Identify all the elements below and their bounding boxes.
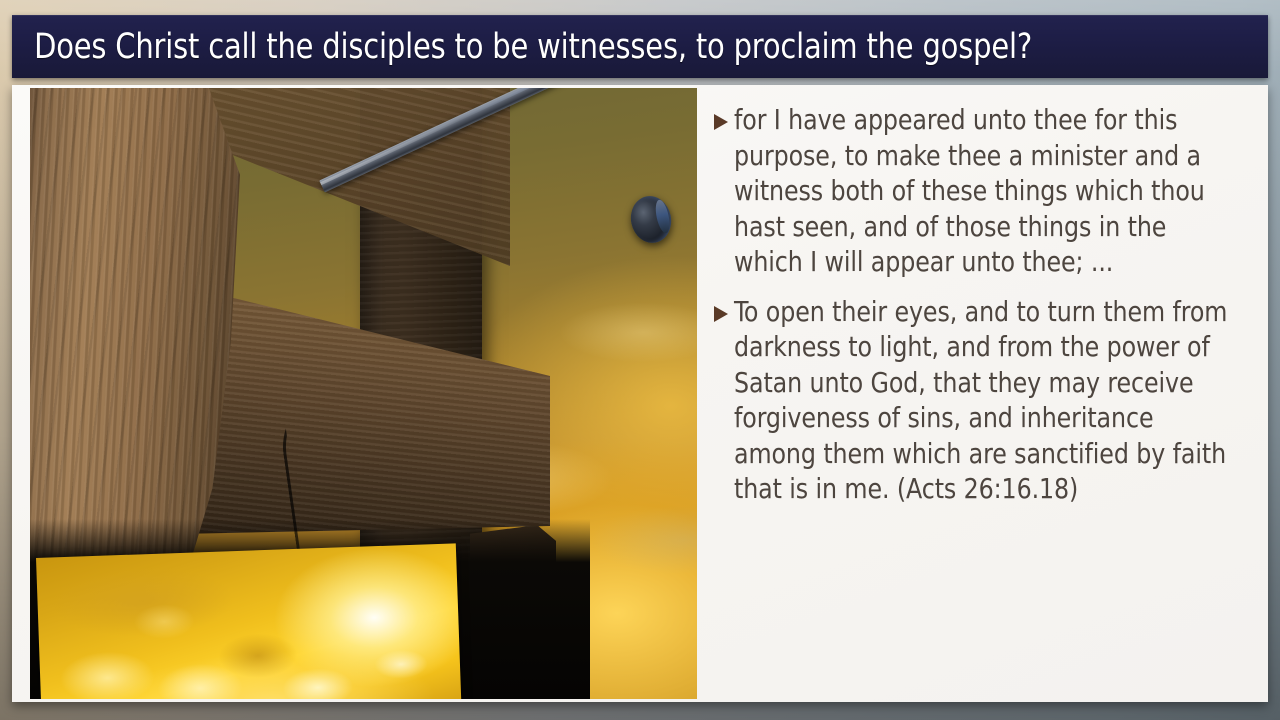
cross-photo bbox=[30, 88, 697, 699]
slide: Does Christ call the disciples to be wit… bbox=[0, 0, 1280, 720]
bullet-item: for I have appeared unto thee for this p… bbox=[712, 103, 1260, 281]
title-bar: Does Christ call the disciples to be wit… bbox=[12, 15, 1268, 78]
inset-cloud-texture bbox=[36, 543, 462, 699]
scripture-text-column: for I have appeared unto thee for this p… bbox=[712, 103, 1260, 522]
inset-golden-clouds-photo bbox=[36, 543, 462, 699]
triangle-right-icon bbox=[712, 113, 734, 131]
triangle-right-icon bbox=[712, 305, 734, 323]
slide-title: Does Christ call the disciples to be wit… bbox=[12, 27, 1032, 67]
bullet-text: To open their eyes, and to turn them fro… bbox=[734, 295, 1239, 508]
bullet-text: for I have appeared unto thee for this p… bbox=[734, 103, 1239, 281]
bullet-item: To open their eyes, and to turn them fro… bbox=[712, 295, 1260, 508]
content-panel: for I have appeared unto thee for this p… bbox=[12, 85, 1268, 702]
